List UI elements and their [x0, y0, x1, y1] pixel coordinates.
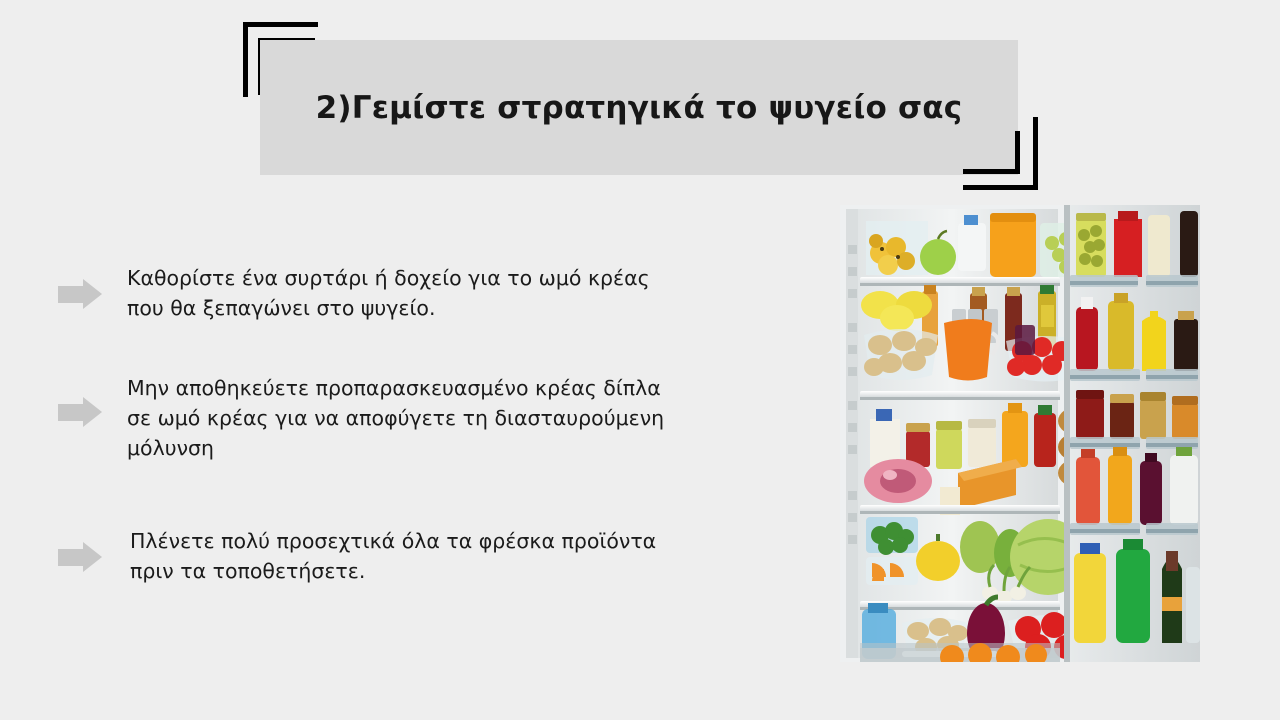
- bullet-item: Μην αποθηκεύετε προπαρασκευασμένο κρέας …: [58, 375, 664, 463]
- refrigerator-photo: [840, 205, 1200, 662]
- bullet-text: Καθορίστε ένα συρτάρι ή δοχείο για το ωμ…: [127, 263, 650, 323]
- bullet-text: Πλένετε πολύ προσεχτικά όλα τα φρέσκα πρ…: [130, 526, 656, 586]
- bullet-text: Μην αποθηκεύετε προπαρασκευασμένο κρέας …: [127, 373, 664, 463]
- presentation-slide: 2)Γεμίστε στρατηγικά το ψυγείο σας Καθορ…: [0, 0, 1280, 720]
- bullet-item: Πλένετε πολύ προσεχτικά όλα τα φρέσκα πρ…: [58, 528, 656, 586]
- right-arrow-icon: [58, 279, 102, 310]
- right-arrow-icon: [58, 397, 102, 428]
- slide-title: 2)Γεμίστε στρατηγικά το ψυγείο σας: [260, 40, 1018, 175]
- bullet-item: Καθορίστε ένα συρτάρι ή δοχείο για το ωμ…: [58, 265, 650, 323]
- right-arrow-icon: [58, 542, 102, 573]
